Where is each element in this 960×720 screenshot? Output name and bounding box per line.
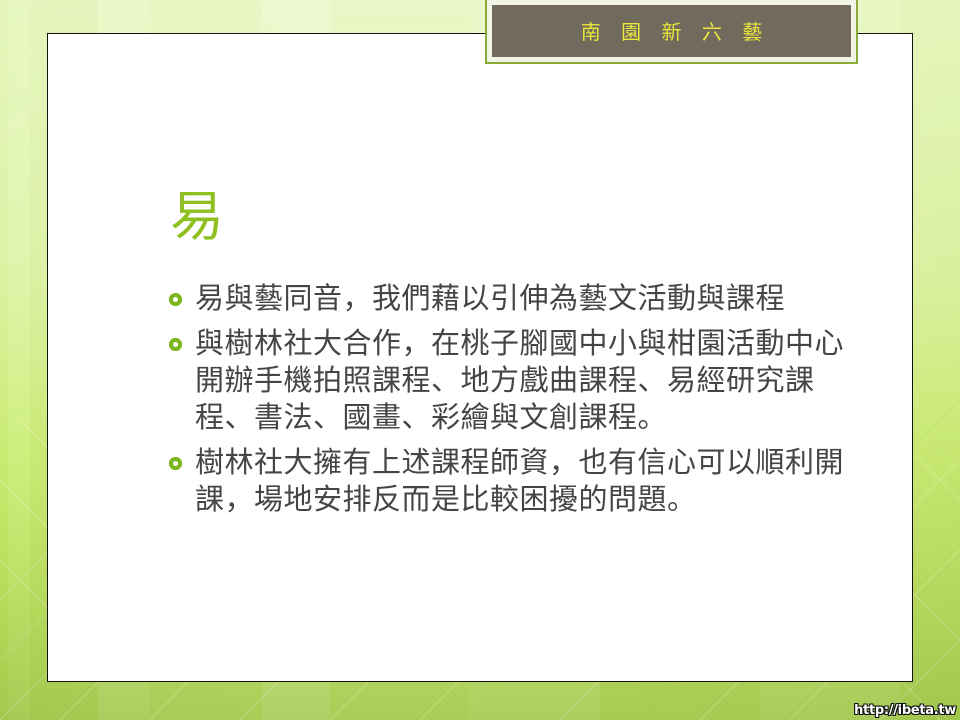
list-item-text: 易與藝同音，我們藉以引伸為藝文活動與課程: [195, 280, 785, 317]
watermark-url: http://ibeta.tw: [854, 703, 956, 718]
page-title: 易: [170, 189, 225, 246]
bullet-list: 易與藝同音，我們藉以引伸為藝文活動與課程 與樹林社大合作，在桃子腳國中小與柑園活…: [169, 280, 869, 526]
bullet-ring-icon: [169, 338, 182, 351]
list-item: 樹林社大擁有上述課程師資，也有信心可以順利開課，場地安排反而是比較困擾的問題。: [169, 444, 869, 518]
list-item-text: 樹林社大擁有上述課程師資，也有信心可以順利開課，場地安排反而是比較困擾的問題。: [195, 444, 869, 518]
header-banner-fill: 南 園 新 六 藝: [492, 5, 851, 57]
list-item: 與樹林社大合作，在桃子腳國中小與柑園活動中心開辦手機拍照課程、地方戲曲課程、易經…: [169, 325, 869, 436]
bullet-ring-icon: [169, 457, 182, 470]
header-banner-title: 南 園 新 六 藝: [574, 16, 769, 47]
list-item: 易與藝同音，我們藉以引伸為藝文活動與課程: [169, 280, 869, 317]
list-item-text: 與樹林社大合作，在桃子腳國中小與柑園活動中心開辦手機拍照課程、地方戲曲課程、易經…: [195, 325, 869, 436]
bullet-ring-icon: [169, 293, 182, 306]
slide-canvas: 易 易與藝同音，我們藉以引伸為藝文活動與課程 與樹林社大合作，在桃子腳國中小與柑…: [0, 0, 960, 720]
content-panel: 易 易與藝同音，我們藉以引伸為藝文活動與課程 與樹林社大合作，在桃子腳國中小與柑…: [47, 33, 913, 682]
header-banner: 南 園 新 六 藝: [485, 0, 858, 64]
